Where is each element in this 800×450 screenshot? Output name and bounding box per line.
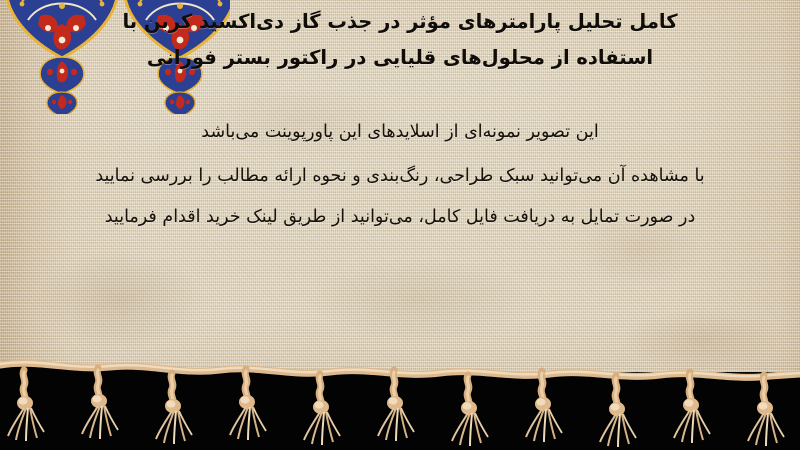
slide-body-line-2: با مشاهده آن می‌توانید سبک طراحی، رنگ‌بن…: [8, 156, 792, 197]
slide-title-line-2: استفاده از محلول‌های قلیایی در راکتور بس…: [12, 40, 788, 76]
slide-body-line-3: در صورت تمایل به دریافت فایل کامل، می‌تو…: [8, 197, 792, 238]
slide-title: کامل تحلیل پارامترهای مؤثر در جذب گاز دی…: [12, 4, 788, 76]
slide-body-line-1: این تصویر نمونه‌ای از اسلایدهای این پاور…: [8, 112, 792, 153]
slide-body: این تصویر نمونه‌ای از اسلایدهای این پاور…: [8, 112, 792, 238]
slide-canvas: کامل تحلیل پارامترهای مؤثر در جذب گاز دی…: [0, 0, 800, 450]
slide-text-layer: کامل تحلیل پارامترهای مؤثر در جذب گاز دی…: [0, 0, 800, 380]
slide-title-line-1: کامل تحلیل پارامترهای مؤثر در جذب گاز دی…: [12, 4, 788, 40]
